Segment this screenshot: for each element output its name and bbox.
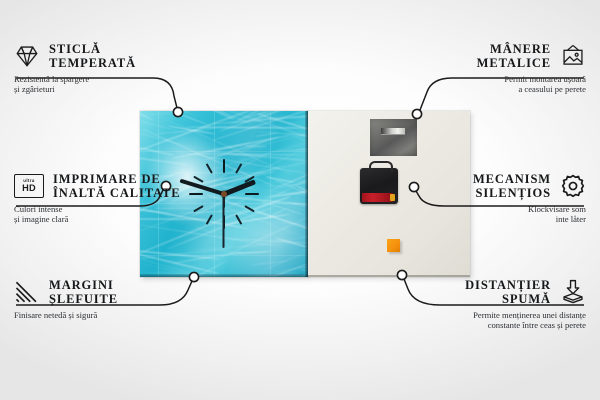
feature-title: DISTANȚIER SPUMĂ: [465, 278, 551, 306]
back-panel-edge-bottom: [308, 275, 470, 277]
ultra-hd-large-label: HD: [22, 184, 36, 193]
feature-polished-edges: MARGINI ȘLEFUITE Finisare netedă și sigu…: [14, 278, 224, 320]
panel-edge-bottom: [140, 274, 308, 277]
hanger-slot: [381, 128, 405, 134]
infographic-canvas: STICLĂ TEMPERATĂ Rezistentă la spargere …: [0, 0, 600, 400]
diagonal-hatch-icon: [14, 279, 40, 305]
feature-tempered-glass: STICLĂ TEMPERATĂ Rezistentă la spargere …: [14, 42, 224, 95]
foam-spacer: [387, 239, 400, 252]
feature-title: MECANISM SILENȚIOS: [473, 172, 551, 200]
diamond-icon: [14, 43, 40, 69]
feature-subtitle: Finisare netedă și sigură: [14, 310, 224, 320]
feature-metal-handles: MÂNERE METALICE Permit montarea ușoară a…: [374, 42, 586, 95]
feature-title: IMPRIMARE DE ÎNALTĂ CALITATE: [53, 172, 181, 200]
ultra-hd-badge-icon: ultra HD: [14, 174, 44, 198]
arrow-onto-stack-icon: [560, 279, 586, 305]
feature-high-quality-print: ultra HD IMPRIMARE DE ÎNALTĂ CALITATE Cu…: [14, 172, 224, 225]
feature-title: MÂNERE METALICE: [477, 42, 551, 70]
feature-silent-mechanism: MECANISM SILENȚIOS Klockvisare som inte …: [374, 172, 586, 225]
mechanism-bail: [369, 161, 393, 172]
picture-frame-hanger-icon: [560, 43, 586, 69]
feature-title: MARGINI ȘLEFUITE: [49, 278, 118, 306]
feature-title: STICLĂ TEMPERATĂ: [49, 42, 136, 70]
feature-subtitle: Rezistentă la spargere și zgârieturi: [14, 74, 224, 95]
feature-foam-spacer: DISTANȚIER SPUMĂ Permite menținerea unei…: [356, 278, 586, 331]
gear-icon: [560, 173, 586, 199]
feature-subtitle: Permit montarea ușoară a ceasului pe per…: [374, 74, 586, 95]
feature-subtitle: Klockvisare som inte låter: [374, 204, 586, 225]
feature-subtitle: Culori intense și imagine clară: [14, 204, 224, 225]
feature-subtitle: Permite menținerea unei distanțe constan…: [356, 310, 586, 331]
metal-hanger: [370, 119, 417, 156]
